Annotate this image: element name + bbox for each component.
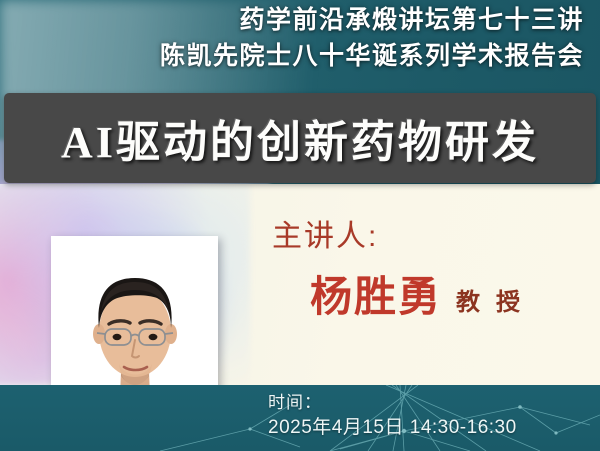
speaker-name-row: 杨胜勇 教 授	[310, 276, 592, 318]
poster-header: 药学前沿承煅讲坛第七十三讲 陈凯先院士八十华诞系列学术报告会	[0, 2, 584, 74]
speaker-block: 主讲人: 杨胜勇 教 授	[272, 222, 592, 318]
speaker-name: 杨胜勇	[310, 276, 442, 318]
time-label: 时间：	[268, 392, 517, 414]
header-line-1: 药学前沿承煅讲坛第七十三讲	[0, 2, 584, 38]
time-value: 2025年4月15日 14:30-16:30	[268, 414, 517, 442]
speaker-label: 主讲人:	[272, 222, 592, 252]
title-band: AI驱动的创新药物研发	[4, 93, 596, 183]
event-poster: 药学前沿承煅讲坛第七十三讲 陈凯先院士八十华诞系列学术报告会 AI驱动的创新药物…	[0, 0, 600, 451]
time-block: 时间： 2025年4月15日 14:30-16:30	[268, 392, 517, 442]
speaker-academic-title: 教 授	[456, 291, 525, 318]
page-title: AI驱动的创新药物研发	[61, 106, 539, 170]
header-line-2: 陈凯先院士八十华诞系列学术报告会	[0, 38, 584, 74]
